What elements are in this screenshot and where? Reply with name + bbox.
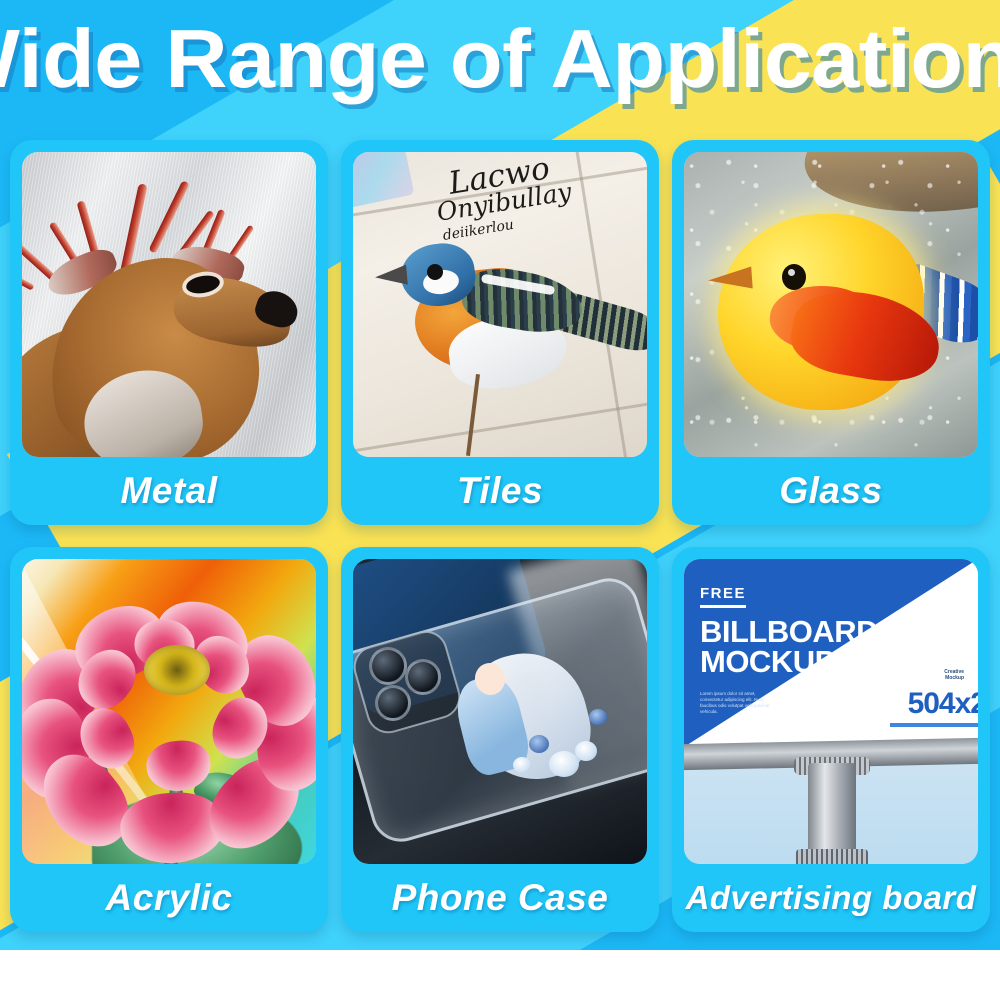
advertising-board-thumbnail: FREE BILLBOARD MOCKUP Lorem ipsum dolor … <box>684 559 978 864</box>
billboard-credit: Creative Mockup <box>944 669 964 681</box>
camera-lens-3 <box>375 685 411 721</box>
billboard-body-text: Lorem ipsum dolor sit amet, consectetur … <box>700 691 774 715</box>
acrylic-thumbnail <box>22 559 316 864</box>
tiles-thumbnail: Lacwo Onyibullay deiikerlou <box>353 152 647 457</box>
applications-grid: Metal Lacwo Onyibullay deiikerlou <box>0 140 1000 932</box>
glass-bird-beak <box>707 266 752 291</box>
printed-flower-2 <box>529 735 549 753</box>
billboard-free-tag: FREE <box>700 585 746 608</box>
card-label-tiles: Tiles <box>353 457 647 525</box>
billboard-credit-line2: Mockup <box>944 675 964 681</box>
printed-flower-5 <box>513 757 531 773</box>
card-label-glass: Glass <box>684 457 978 525</box>
peony-center-stamens <box>144 645 210 695</box>
billboard-face: FREE BILLBOARD MOCKUP Lorem ipsum dolor … <box>684 559 978 747</box>
header: Wide Range of Applications <box>0 0 1000 118</box>
printed-flower-4 <box>589 709 607 725</box>
poster-root: Wide Range of Applications <box>0 0 1000 1000</box>
printed-flower-3 <box>575 741 597 761</box>
billboard-pole-base <box>796 849 868 864</box>
tile-bird-beak <box>374 265 408 288</box>
camera-lens-1 <box>369 647 407 685</box>
page-title: Wide Range of Applications <box>0 16 1000 102</box>
phone-case-thumbnail <box>353 559 647 864</box>
card-phone-case[interactable]: Phone Case <box>341 547 659 932</box>
glass-bird-eye <box>782 264 806 290</box>
tile-bird-eye <box>427 264 443 280</box>
card-acrylic[interactable]: Acrylic <box>10 547 328 932</box>
metal-thumbnail <box>22 152 316 457</box>
glass-thumbnail <box>684 152 978 457</box>
billboard-title-line2: MOCKUP <box>700 647 878 677</box>
billboard-dimensions: 504x2 <box>908 687 978 721</box>
billboard-title-line1: BILLBOARD <box>700 617 878 647</box>
camera-lens-2 <box>405 659 441 695</box>
card-glass[interactable]: Glass <box>672 140 990 525</box>
printed-flower-1 <box>549 751 579 777</box>
card-tiles[interactable]: Lacwo Onyibullay deiikerlou Tiles <box>341 140 659 525</box>
card-metal[interactable]: Metal <box>10 140 328 525</box>
billboard-title: BILLBOARD MOCKUP <box>700 617 878 677</box>
card-advertising-board[interactable]: FREE BILLBOARD MOCKUP Lorem ipsum dolor … <box>672 547 990 932</box>
card-label-acrylic: Acrylic <box>22 864 316 932</box>
card-label-advertising-board: Advertising board <box>684 864 978 932</box>
billboard-dimensions-underline <box>890 723 978 727</box>
card-label-metal: Metal <box>22 457 316 525</box>
card-label-phone-case: Phone Case <box>353 864 647 932</box>
